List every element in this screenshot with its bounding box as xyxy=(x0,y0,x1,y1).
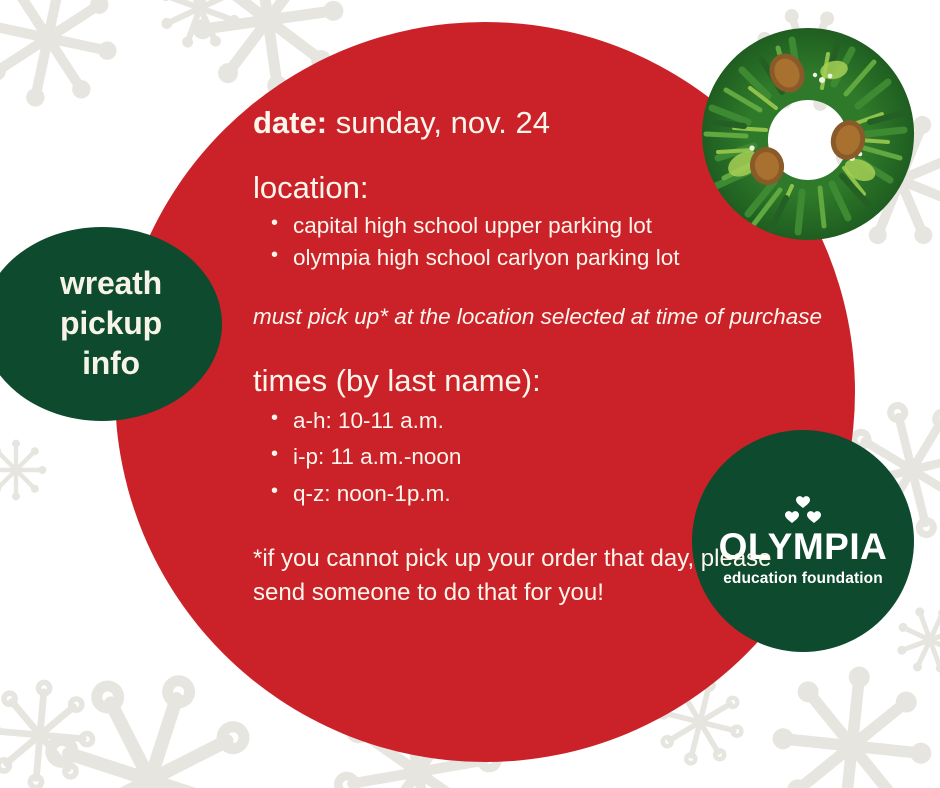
badge-left-text: wreath pickup info xyxy=(42,264,162,383)
list-item: a-h: 10-11 a.m. xyxy=(265,403,823,439)
badge-left-line3: info xyxy=(60,344,162,384)
date-label: date: xyxy=(253,105,327,140)
list-item: olympia high school carlyon parking lot xyxy=(265,242,823,274)
footnote-text: *if you cannot pick up your order that d… xyxy=(253,542,823,610)
times-heading: times (by last name): xyxy=(253,362,823,400)
pickup-note: must pick up* at the location selected a… xyxy=(253,302,823,332)
list-item: i-p: 11 a.m.-noon xyxy=(265,439,823,475)
poster-content: date: sunday, nov. 24 location: capital … xyxy=(253,104,823,610)
badge-left-line1: wreath xyxy=(60,264,162,304)
location-list: capital high school upper parking lot ol… xyxy=(265,210,823,274)
list-item: capital high school upper parking lot xyxy=(265,210,823,242)
wreath-pickup-info-poster: wreath pickup info OLYMPIA education fou… xyxy=(0,0,940,788)
badge-left-line2: pickup xyxy=(60,304,162,344)
list-item: q-z: noon-1p.m. xyxy=(265,476,823,512)
times-list: a-h: 10-11 a.m. i-p: 11 a.m.-noon q-z: n… xyxy=(265,403,823,512)
location-heading: location: xyxy=(253,169,823,207)
date-value: sunday, nov. 24 xyxy=(336,105,550,140)
date-line: date: sunday, nov. 24 xyxy=(253,104,823,143)
